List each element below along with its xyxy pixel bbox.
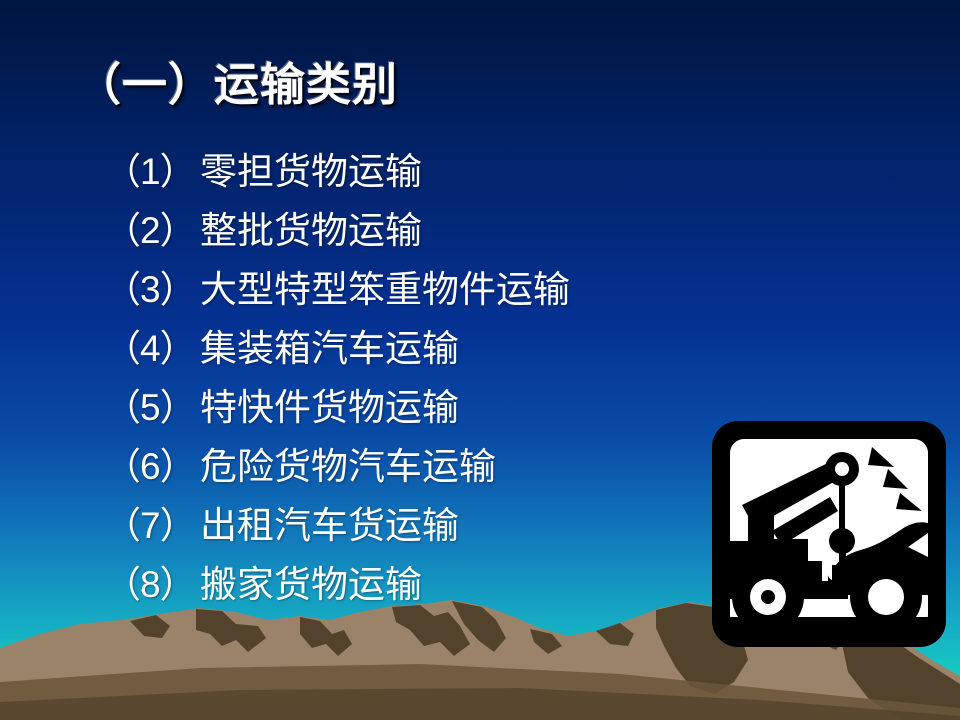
list-item-number: （7） [104,496,200,555]
tow-truck-icon [712,421,946,647]
list-item: （2）整批货物运输 [104,201,724,260]
list-item-number: （3） [104,260,200,319]
list-item: （6）危险货物汽车运输 [104,437,724,496]
slide-title: （一）运输类别 [76,48,398,113]
list-item-label: 特快件货物运输 [200,378,459,437]
list-item-label: 危险货物汽车运输 [200,437,496,496]
list-item-label: 大型特型笨重物件运输 [200,260,570,319]
list-item: （1）零担货物运输 [104,142,724,201]
list-item-number: （5） [104,378,200,437]
list-item-number: （8） [104,555,200,614]
list-item-number: （6） [104,437,200,496]
list-item: （7）出租汽车货运输 [104,496,724,555]
list-item-number: （1） [104,142,200,201]
list-item: （4）集装箱汽车运输 [104,319,724,378]
list-item-label: 出租汽车货运输 [200,496,459,555]
list-item-label: 零担货物运输 [200,142,422,201]
list-item-label: 整批货物运输 [200,201,422,260]
list-item-label: 集装箱汽车运输 [200,319,459,378]
slide-canvas: （一）运输类别 （1）零担货物运输 （2）整批货物运输 （3）大型特型笨重物件运… [0,0,960,720]
list-item: （3）大型特型笨重物件运输 [104,260,724,319]
list-item-number: （4） [104,319,200,378]
list-item-number: （2） [104,201,200,260]
list-item: （5）特快件货物运输 [104,378,724,437]
list-item: （8）搬家货物运输 [104,555,724,614]
list-item-label: 搬家货物运输 [200,555,422,614]
bullet-list: （1）零担货物运输 （2）整批货物运输 （3）大型特型笨重物件运输 （4）集装箱… [104,142,724,614]
